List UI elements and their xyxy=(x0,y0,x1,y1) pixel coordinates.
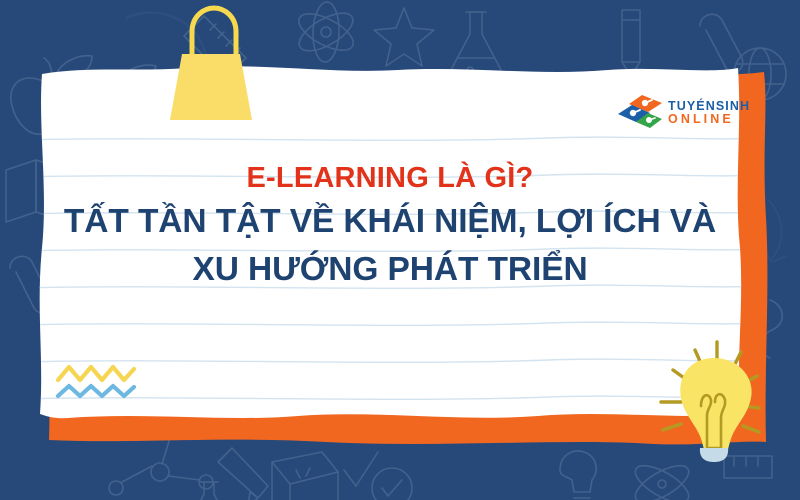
pencil2-doodle xyxy=(218,448,268,500)
badge-doodle xyxy=(372,468,412,500)
logo-line-online: ONLINE xyxy=(668,113,750,126)
atom-doodle xyxy=(293,2,358,63)
flask2-doodle xyxy=(194,482,224,500)
headline-line-2: TẤT TẦN TẬT VỀ KHÁI NIỆM, LỢI ÍCH VÀ xyxy=(28,198,752,246)
logo-mark-icon xyxy=(618,95,662,131)
tuyensinh-online-logo[interactable]: TUYÉNSINH ONLINE xyxy=(618,92,740,134)
lightbulb-icon xyxy=(655,332,773,462)
cube-doodle xyxy=(272,452,338,500)
atom2-doodle xyxy=(630,459,694,500)
headline-line-3: XU HƯỚNG PHÁT TRIỂN xyxy=(28,246,752,294)
headline-block: E-LEARNING LÀ GÌ? TẤT TẦN TẬT VỀ KHÁI NI… xyxy=(28,158,752,293)
headline-line-1: E-LEARNING LÀ GÌ? xyxy=(28,158,752,198)
lightbulb-base xyxy=(700,448,728,462)
bulb-doodle xyxy=(560,451,596,498)
logo-wordmark: TUYÉNSINH ONLINE xyxy=(668,100,750,126)
lightbulb-glass xyxy=(680,358,751,454)
binder-clip xyxy=(148,2,274,120)
zigzag-waves xyxy=(55,362,137,404)
poster-canvas: TUYÉNSINH ONLINE E-LEARNING LÀ GÌ? TẤT T… xyxy=(0,0,800,500)
